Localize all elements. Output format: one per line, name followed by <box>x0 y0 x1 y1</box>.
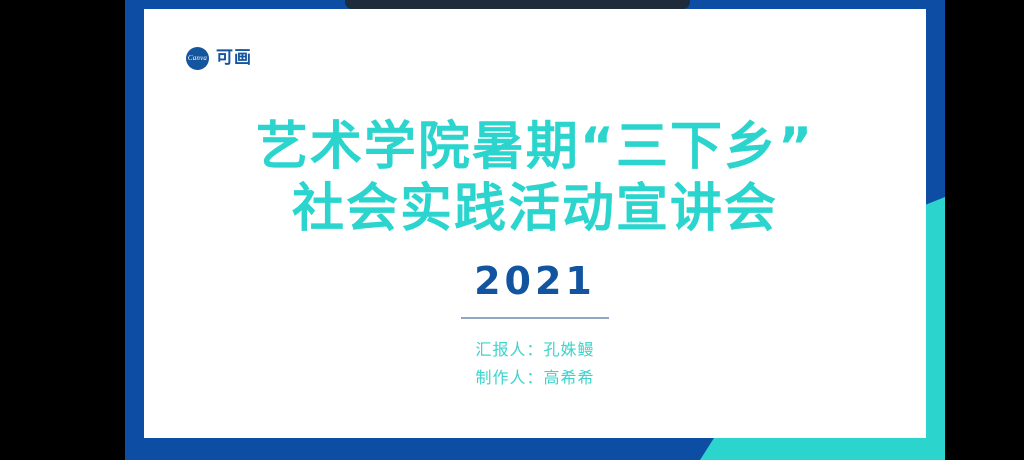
credit-producer: 制作人：高希希 <box>475 364 594 392</box>
slide-frame: Canva 可画 艺术学院暑期“三下乡” 社会实践活动宣讲会 2021 汇报人：… <box>125 0 945 460</box>
top-notch-bar <box>345 0 690 9</box>
accent-shape-right <box>925 197 945 460</box>
slide-title-line-1: 艺术学院暑期“三下乡” <box>256 119 814 175</box>
title-divider <box>461 317 609 319</box>
letterbox-left <box>0 0 125 460</box>
slide-canvas: Canva 可画 艺术学院暑期“三下乡” 社会实践活动宣讲会 2021 汇报人：… <box>144 9 926 438</box>
slide-content: 艺术学院暑期“三下乡” 社会实践活动宣讲会 2021 汇报人：孔姝鳗 制作人：高… <box>144 9 926 438</box>
accent-shape-bottom <box>700 438 945 460</box>
slide-credits: 汇报人：孔姝鳗 制作人：高希希 <box>475 336 594 392</box>
slide-year: 2021 <box>474 259 596 303</box>
credit-presenter: 汇报人：孔姝鳗 <box>475 336 594 364</box>
slide-screenshot: Canva 可画 艺术学院暑期“三下乡” 社会实践活动宣讲会 2021 汇报人：… <box>0 0 1024 460</box>
letterbox-right <box>945 0 1024 460</box>
slide-title-line-2: 社会实践活动宣讲会 <box>292 181 778 237</box>
